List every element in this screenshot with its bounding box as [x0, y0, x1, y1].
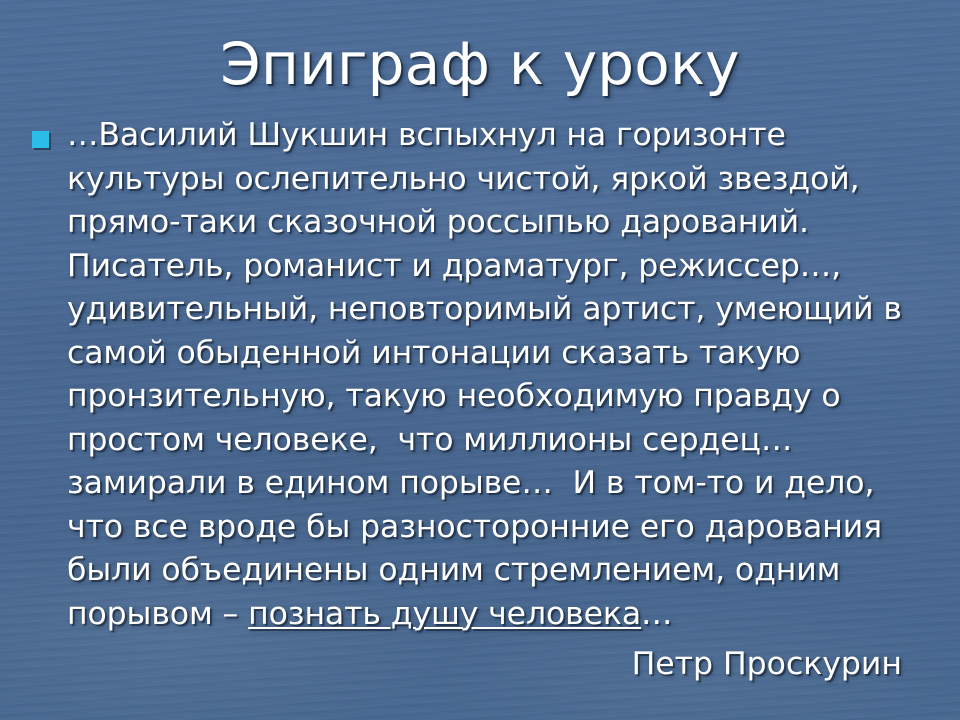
- quote-text-part-2: …: [641, 596, 672, 632]
- quote-body-text: …Василий Шукшин вспыхнул на горизонте ку…: [67, 114, 928, 636]
- page-title: Эпиграф к уроку: [0, 34, 960, 95]
- quote-bullet-item: …Василий Шукшин вспыхнул на горизонте ку…: [32, 114, 928, 636]
- quote-text-part-1: …Василий Шукшин вспыхнул на горизонте ку…: [67, 117, 902, 632]
- quote-attribution: Петр Проскурин: [632, 644, 902, 684]
- quote-text-underlined: познать душу человека: [248, 596, 641, 632]
- presentation-slide: Эпиграф к уроку …Василий Шукшин вспыхнул…: [0, 0, 960, 720]
- square-bullet-icon: [32, 131, 49, 148]
